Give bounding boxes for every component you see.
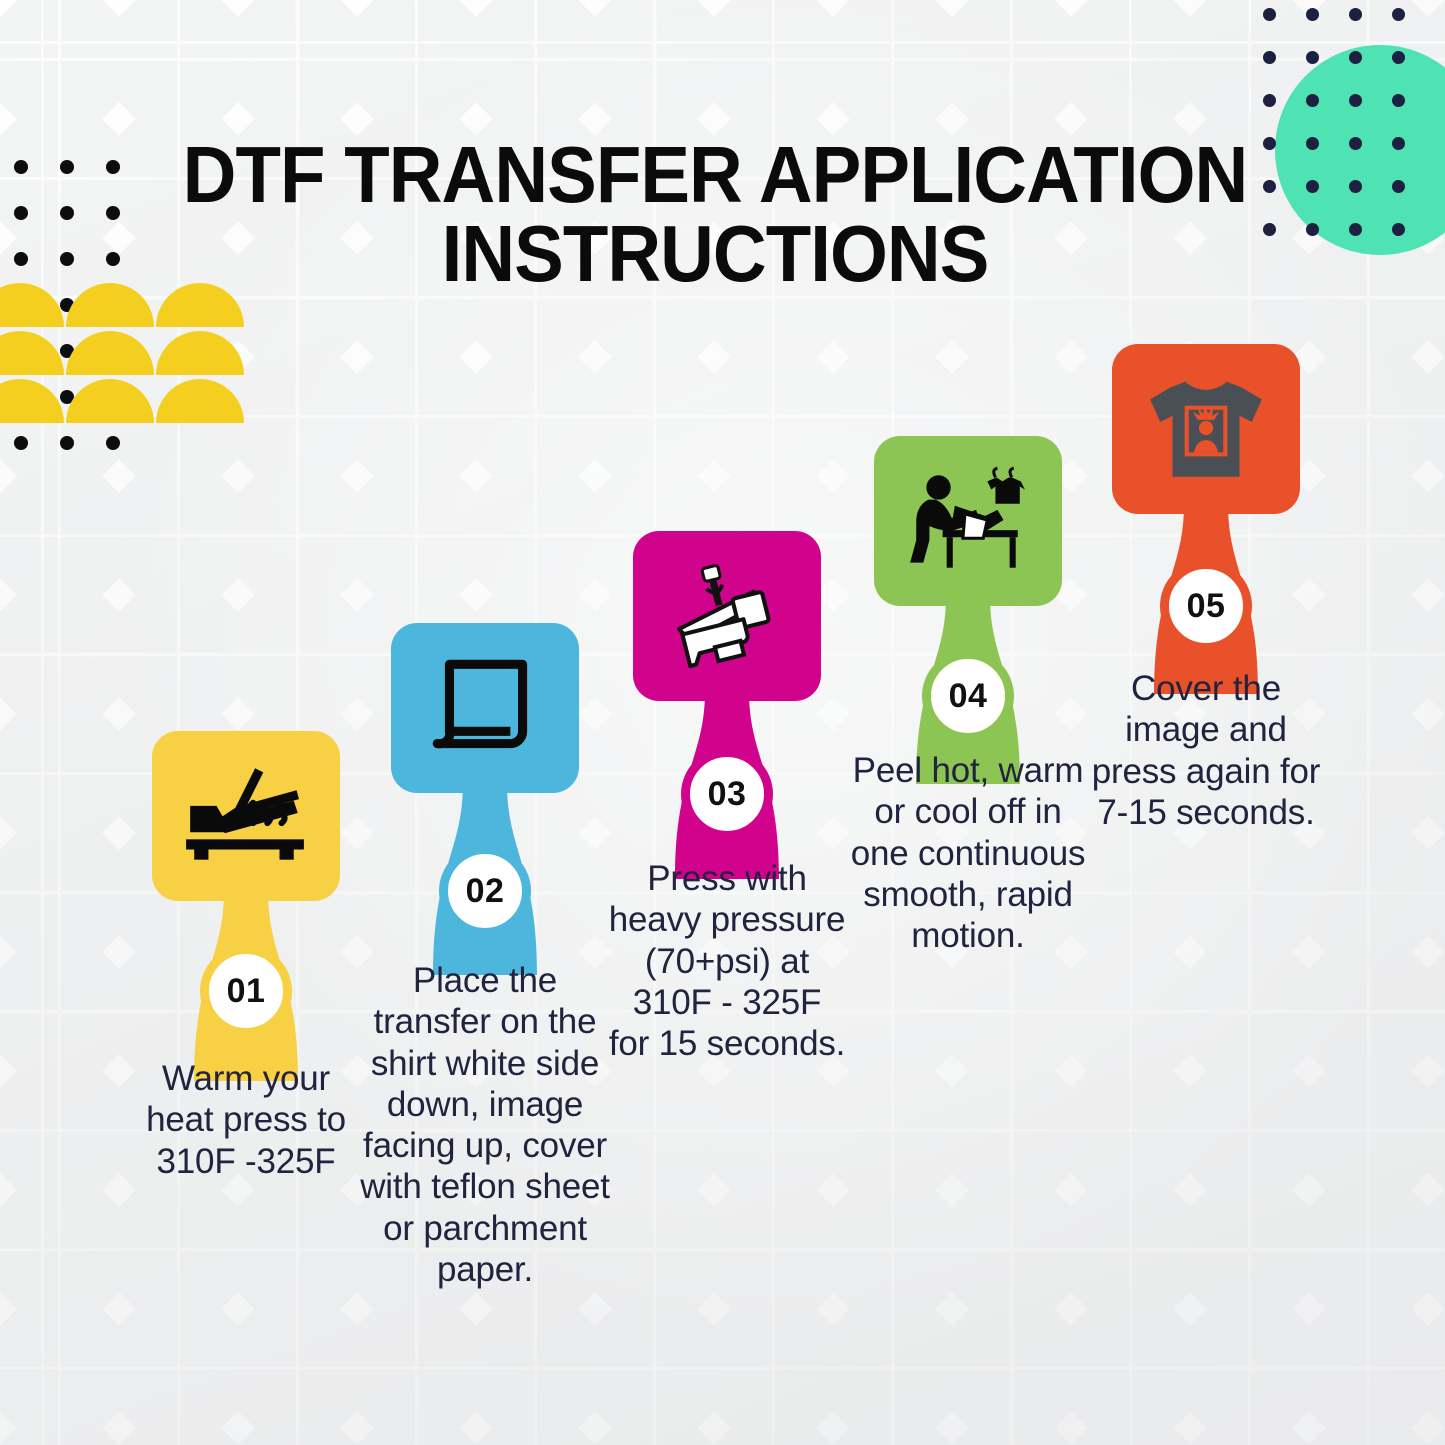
heat-press-machine-icon	[661, 557, 793, 675]
printed-tshirt-icon	[1140, 370, 1272, 488]
step-caption: Warm your heat press to 310F -325F	[127, 1058, 365, 1182]
steps-container: 01 Warm your heat press to 310F -325F	[0, 0, 1445, 1445]
peeling-worker-icon	[902, 462, 1034, 580]
step-caption: Press with heavy pressure (70+psi) at 31…	[608, 858, 846, 1064]
step-number-label: 03	[708, 775, 747, 814]
step-icon-card	[1112, 344, 1300, 514]
step-number-label: 02	[466, 872, 505, 911]
step-number-badge: 05	[1160, 560, 1252, 652]
step-caption: Cover the image and press again for 7-15…	[1087, 668, 1325, 833]
step-caption: Place the transfer on the shirt white si…	[360, 960, 610, 1290]
transfer-sheet-icon	[419, 649, 551, 767]
step-number-label: 01	[227, 972, 266, 1011]
step-number-badge: 02	[439, 845, 531, 937]
step-caption: Peel hot, warm or cool off in one contin…	[849, 750, 1087, 956]
step-number-badge: 03	[681, 748, 773, 840]
step-number-label: 05	[1187, 587, 1226, 626]
step-number-badge: 04	[922, 650, 1014, 742]
step-icon-card	[152, 731, 340, 901]
step-icon-card	[874, 436, 1062, 606]
step-number-label: 04	[949, 677, 988, 716]
step-icon-card	[633, 531, 821, 701]
heat-press-open-icon	[180, 757, 312, 875]
step-number-badge: 01	[200, 945, 292, 1037]
step-icon-card	[391, 623, 579, 793]
